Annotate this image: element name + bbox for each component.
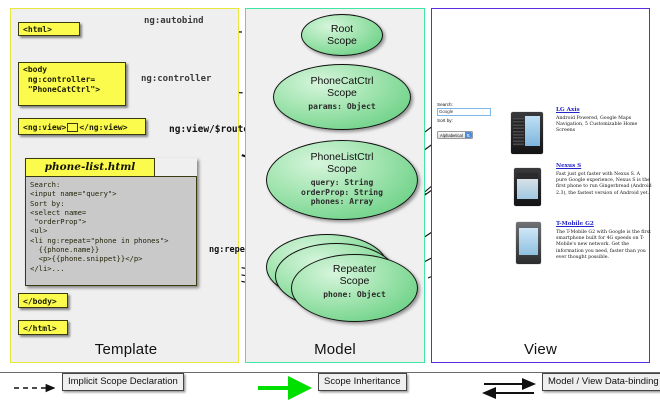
tag-html-close: </html> <box>18 320 68 335</box>
phone-title-link[interactable]: LG Axis <box>556 106 652 114</box>
panel-label-template: Template <box>51 341 201 358</box>
tag-body-close: </body> <box>18 293 68 308</box>
phone-thumbnail-nexus-s <box>514 168 541 206</box>
view-search-form: Search: Google Sort by: Alphabetical⇅ <box>437 102 495 142</box>
edge-label-ng-view-route: ng:view/$route <box>169 124 249 135</box>
scope-phonecatctrl-props: params: Object <box>274 102 410 112</box>
edge-label-ng-controller: ng:controller <box>141 74 211 84</box>
scope-repeater-front: Repeater Scope phone: Object <box>291 254 418 322</box>
scope-repeater-stack: Repeater Scope phone: Object <box>266 234 418 324</box>
phone-snippet: Android Powered, Google Maps Navigation,… <box>556 116 652 135</box>
legend-item-implicit-scope-declaration: Implicit Scope Declaration <box>62 373 184 391</box>
scope-phonecatctrl: PhoneCatCtrl Scope params: Object <box>273 64 411 130</box>
scope-root: Root Scope <box>301 14 383 56</box>
scope-phonelistctrl-name: PhoneListCtrl Scope <box>267 141 417 175</box>
panel-label-view: View <box>432 341 649 358</box>
phone-thumbnail-tmobile-g2 <box>516 222 541 264</box>
snippet-title: phone-list.html <box>25 158 155 177</box>
phone-title-link[interactable]: T-Mobile G2 <box>556 220 652 228</box>
diagram-root: Template <html> <body ng:controller= "Ph… <box>0 0 660 405</box>
scope-phonelistctrl: PhoneListCtrl Scope query: String orderP… <box>266 140 418 220</box>
legend: Implicit Scope Declaration Scope Inherit… <box>0 372 660 405</box>
phone-entry-tmobile-g2: T-Mobile G2 The T-Mobile G2 with Google … <box>556 220 652 261</box>
sort-label: Sort by: <box>437 118 495 124</box>
phone-entry-nexus-s: Nexus S Fast just got faster with Nexus … <box>556 162 652 197</box>
tag-ngview-close: </ng:view> <box>79 123 127 132</box>
phone-thumbnail-lg-axis <box>511 112 543 154</box>
phone-snippet: The T-Mobile G2 with Google is the first… <box>556 230 652 261</box>
tag-html-open: <html> <box>18 22 80 36</box>
chevron-down-icon: ⇅ <box>465 132 472 138</box>
phone-entry-lg-axis: LG Axis Android Powered, Google Maps Nav… <box>556 106 652 135</box>
phone-snippet: Fast just got faster with Nexus S. A pur… <box>556 172 652 197</box>
ngview-slot-icon <box>67 123 78 132</box>
sort-select[interactable]: Alphabetical⇅ <box>437 131 473 139</box>
snippet-code: Search: <input name="query"> Sort by: <s… <box>25 176 197 286</box>
tag-ngview: <ng:view></ng:view> <box>18 118 146 135</box>
edge-label-ng-autobind: ng:autobind <box>144 16 204 26</box>
legend-item-data-binding: Model / View Data-binding <box>542 373 660 391</box>
panel-label-model: Model <box>246 341 424 358</box>
tag-ngview-open: <ng:view> <box>23 123 66 132</box>
legend-item-scope-inheritance: Scope Inheritance <box>318 373 407 391</box>
phone-title-link[interactable]: Nexus S <box>556 162 652 170</box>
scope-phonecatctrl-name: PhoneCatCtrl Scope <box>274 65 410 99</box>
scope-root-name: Root Scope <box>302 15 382 47</box>
scope-phonelistctrl-props: query: String orderProp: String phones: … <box>267 178 417 207</box>
tag-body-open: <body ng:controller= "PhoneCatCtrl"> <box>18 62 126 106</box>
search-input[interactable]: Google <box>437 108 491 116</box>
template-snippet-card: phone-list.html Search: <input name="que… <box>25 158 197 286</box>
sort-select-value: Alphabetical <box>440 133 463 138</box>
scope-repeater-name: Repeater Scope <box>292 255 417 287</box>
scope-repeater-props: phone: Object <box>292 290 417 300</box>
